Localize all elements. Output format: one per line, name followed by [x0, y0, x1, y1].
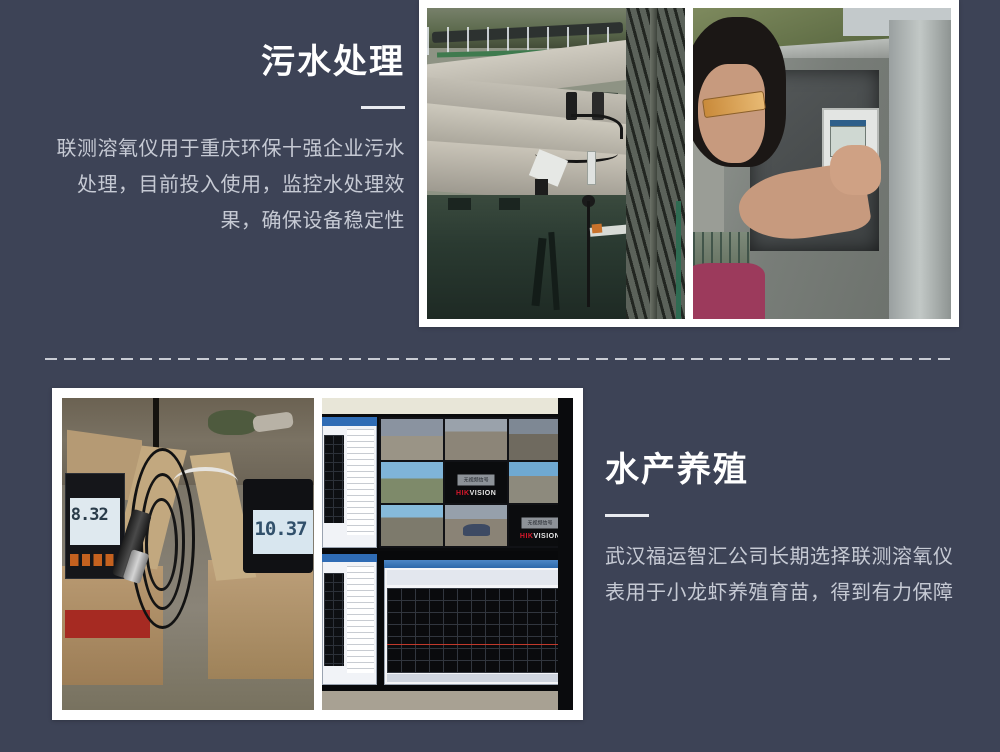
- monitoring-station-photo: 无视频信号HIKVISION 无视频信号HIKVISION: [322, 398, 574, 710]
- section-wastewater-treatment: 污水处理 联测溶氧仪用于重庆环保十强企业污水处理，目前投入使用，监控水处理效果，…: [0, 0, 1000, 352]
- data-chart-window: [387, 588, 568, 672]
- no-signal-label-2: 无视频信号: [522, 517, 559, 528]
- section-aquaculture: 水产养殖 武汉福运智汇公司长期选择联测溶氧仪表用于小龙虾养殖育苗，得到有力保障 …: [0, 370, 1000, 752]
- aquaculture-photo-frame: 10.37 8.32: [52, 388, 583, 720]
- hikvision-logo: HIKVISION: [456, 490, 496, 497]
- meter-left-reading: 8.32: [71, 507, 119, 538]
- page-title-wastewater: 污水处理: [40, 40, 405, 84]
- wastewater-description: 联测溶氧仪用于重庆环保十强企业污水处理，目前投入使用，监控水处理效果，确保设备稳…: [40, 131, 405, 239]
- meters-on-boxes-photo: 10.37 8.32: [62, 398, 314, 710]
- page-title-aquaculture: 水产养殖: [605, 448, 955, 492]
- no-signal-label: 无视频信号: [458, 474, 495, 485]
- wastewater-photo-frame: [419, 0, 959, 327]
- aquaculture-copy-block: 水产养殖 武汉福运智汇公司长期选择联测溶氧仪表用于小龙虾养殖育苗，得到有力保障: [605, 448, 955, 611]
- section-divider: [45, 358, 957, 360]
- hikvision-logo: HIKVISION: [520, 533, 560, 540]
- wastewater-copy-block: 污水处理 联测溶氧仪用于重庆环保十强企业污水处理，目前投入使用，监控水处理效果，…: [40, 40, 405, 239]
- cctv-video-wall: 无视频信号HIKVISION 无视频信号HIKVISION: [379, 417, 573, 548]
- wastewater-basin-photo: [427, 8, 685, 319]
- title-underline-rule-2: [605, 514, 649, 517]
- aquaculture-description: 武汉福运智汇公司长期选择联测溶氧仪表用于小龙虾养殖育苗，得到有力保障: [605, 539, 955, 611]
- technician-cabinet-photo: [693, 8, 951, 319]
- meter-right-reading: 10.37: [254, 520, 312, 551]
- title-underline-rule: [361, 106, 405, 109]
